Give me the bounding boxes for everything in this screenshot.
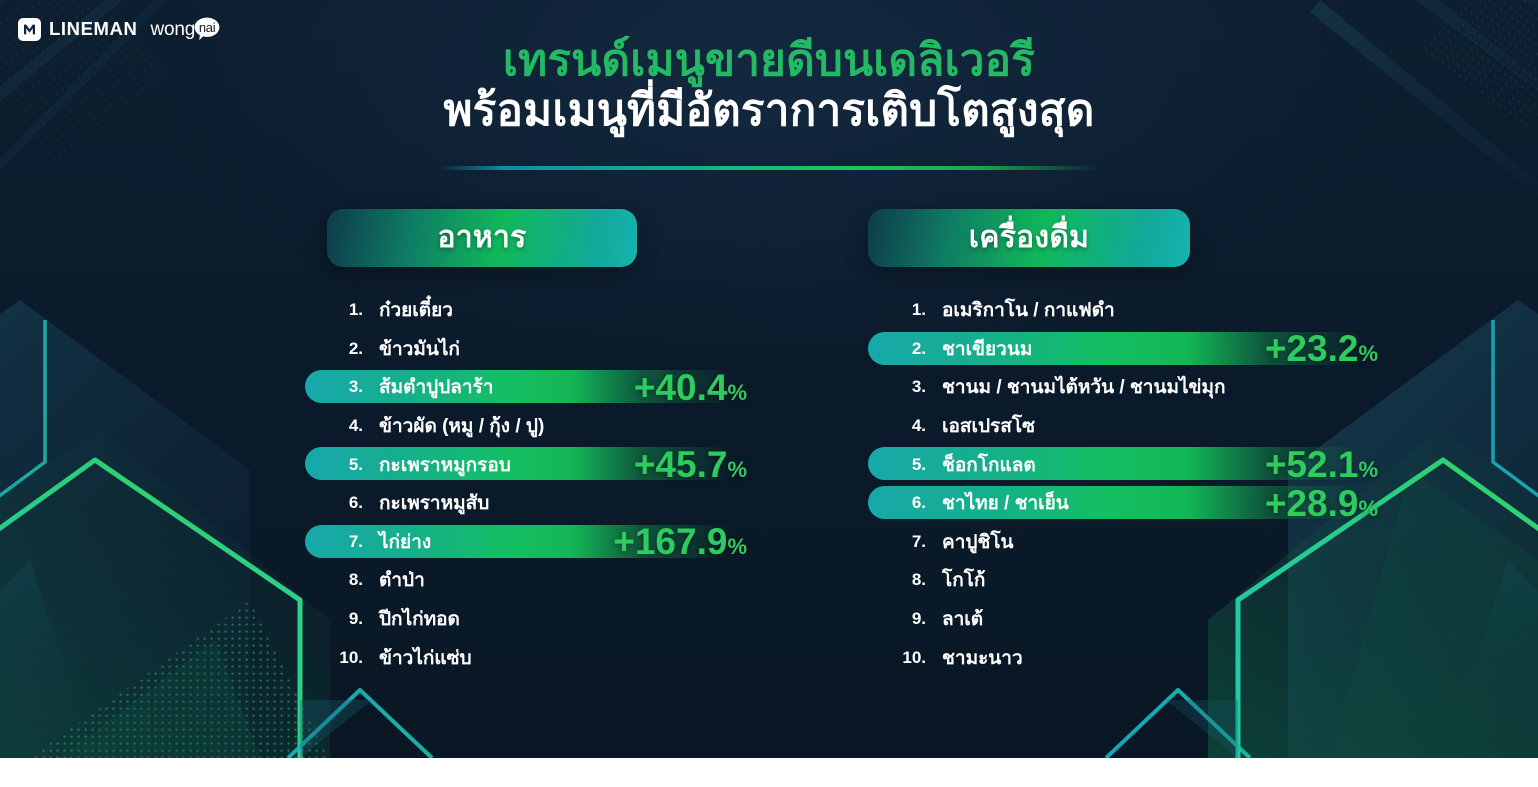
rank: 2. (305, 339, 363, 359)
item-name: คาปูชิโน (942, 527, 1014, 557)
growth-value: +167.9% (613, 523, 747, 560)
item-name: ช็อกโกแลต (942, 450, 1036, 480)
column-drinks: เครื่องดื่ม 1. อเมริกาโน / กาแฟดำ 2. ชาเ… (868, 209, 1388, 677)
rank: 1. (305, 300, 363, 320)
column-header-drinks: เครื่องดื่ม (868, 209, 1190, 267)
column-food: อาหาร 1. ก๋วยเตี๋ยว 2. ข้าวมันไก่ 3. ส้ม… (305, 209, 755, 677)
list-item[interactable]: 1. ก๋วยเตี๋ยว (305, 291, 755, 330)
rank: 4. (305, 416, 363, 436)
infographic-canvas: LINEMAN wong nai เทรนด์เมนูขายดีบนเดลิเว… (0, 0, 1538, 787)
growth-value: +28.9% (1265, 485, 1378, 522)
rank: 2. (868, 339, 926, 359)
list-item[interactable]: 2. ชาเขียวนม +23.2% (868, 330, 1388, 369)
list-item[interactable]: 6. ชาไทย / ชาเย็น +28.9% (868, 484, 1388, 523)
list-item[interactable]: 10. ชามะนาว (868, 638, 1388, 677)
wongnai-wordmark: wong nai (150, 17, 220, 41)
list-item[interactable]: 4. เอสเปรสโซ (868, 407, 1388, 446)
list-item[interactable]: 5. กะเพราหมูกรอบ +45.7% (305, 445, 755, 484)
rank: 7. (305, 532, 363, 552)
title-divider (439, 166, 1099, 170)
list-item[interactable]: 9. ลาเต้ (868, 600, 1388, 639)
item-name: ตำป่า (379, 565, 425, 595)
rank: 6. (305, 493, 363, 513)
nai-bubble-icon: nai (194, 17, 220, 41)
rank: 7. (868, 532, 926, 552)
item-name: เอสเปรสโซ (942, 411, 1035, 441)
rank: 5. (868, 455, 926, 475)
rank: 9. (868, 609, 926, 629)
page-title: เทรนด์เมนูขายดีบนเดลิเวอรี พร้อมเมนูที่ม… (0, 36, 1538, 136)
rank: 8. (305, 570, 363, 590)
column-header-food: อาหาร (327, 209, 637, 267)
item-name: กะเพราหมูกรอบ (379, 450, 511, 480)
item-name: อเมริกาโน / กาแฟดำ (942, 295, 1115, 325)
list-item[interactable]: 2. ข้าวมันไก่ (305, 330, 755, 369)
item-name: ชามะนาว (942, 643, 1023, 673)
growth-value: +52.1% (1265, 446, 1378, 483)
item-name: ข้าวไก่แซ่บ (379, 643, 472, 673)
rank: 8. (868, 570, 926, 590)
item-name: ข้าวมันไก่ (379, 334, 460, 364)
brand-logo[interactable]: LINEMAN wong nai (18, 17, 220, 41)
rank: 5. (305, 455, 363, 475)
growth-value: +45.7% (634, 446, 747, 483)
list-item[interactable]: 7. ไก่ย่าง +167.9% (305, 523, 755, 562)
list-item[interactable]: 9. ปีกไก่ทอด (305, 600, 755, 639)
list-item[interactable]: 8. โกโก้ (868, 561, 1388, 600)
item-name: ลาเต้ (942, 604, 983, 634)
list-item[interactable]: 1. อเมริกาโน / กาแฟดำ (868, 291, 1388, 330)
rank: 6. (868, 493, 926, 513)
item-name: ชานม / ชานมไต้หวัน / ชานมไข่มุก (942, 372, 1226, 402)
title-line-2: พร้อมเมนูที่มีอัตราการเติบโตสูงสุด (0, 86, 1538, 136)
list-item[interactable]: 8. ตำป่า (305, 561, 755, 600)
rank: 9. (305, 609, 363, 629)
ranked-list-food: 1. ก๋วยเตี๋ยว 2. ข้าวมันไก่ 3. ส้มตำปูปล… (305, 291, 755, 677)
dark-background: LINEMAN wong nai เทรนด์เมนูขายดีบนเดลิเว… (0, 0, 1538, 758)
lineman-wordmark: LINEMAN (49, 20, 137, 39)
item-name: ข้าวผัด (หมู / กุ้ง / ปู) (379, 411, 544, 441)
item-name: ส้มตำปูปลาร้า (379, 372, 493, 402)
item-name: ปีกไก่ทอด (379, 604, 460, 634)
item-name: ชาเขียวนม (942, 334, 1032, 364)
list-item[interactable]: 10. ข้าวไก่แซ่บ (305, 638, 755, 677)
rank: 4. (868, 416, 926, 436)
item-name: กะเพราหมูสับ (379, 488, 489, 518)
rank: 3. (868, 377, 926, 397)
list-item[interactable]: 4. ข้าวผัด (หมู / กุ้ง / ปู) (305, 407, 755, 446)
title-line-1: เทรนด์เมนูขายดีบนเดลิเวอรี (0, 36, 1538, 86)
list-item[interactable]: 5. ช็อกโกแลต +52.1% (868, 445, 1388, 484)
ranked-list-drinks: 1. อเมริกาโน / กาแฟดำ 2. ชาเขียวนม +23.2… (868, 291, 1388, 677)
growth-value: +23.2% (1265, 330, 1378, 367)
list-item[interactable]: 7. คาปูชิโน (868, 523, 1388, 562)
growth-value: +40.4% (634, 369, 747, 406)
rank: 3. (305, 377, 363, 397)
rank: 10. (868, 648, 926, 668)
item-name: โกโก้ (942, 565, 985, 595)
item-name: ไก่ย่าง (379, 527, 431, 557)
list-item[interactable]: 3. ส้มตำปูปลาร้า +40.4% (305, 368, 755, 407)
lineman-m-icon (18, 18, 41, 41)
list-item[interactable]: 3. ชานม / ชานมไต้หวัน / ชานมไข่มุก (868, 368, 1388, 407)
rank: 10. (305, 648, 363, 668)
item-name: ชาไทย / ชาเย็น (942, 488, 1069, 518)
list-item[interactable]: 6. กะเพราหมูสับ (305, 484, 755, 523)
rank: 1. (868, 300, 926, 320)
item-name: ก๋วยเตี๋ยว (379, 295, 453, 325)
